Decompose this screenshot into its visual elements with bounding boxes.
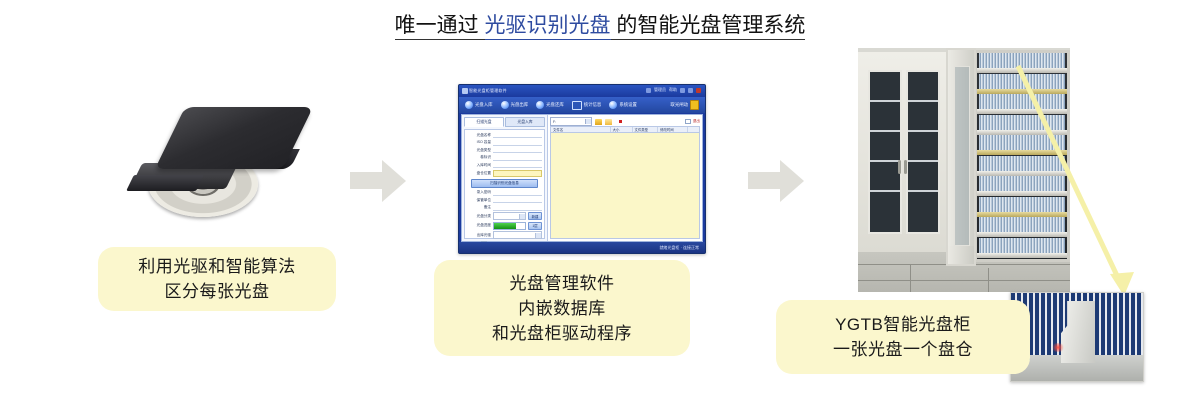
shelf-discs (979, 115, 1065, 130)
cabinet-shelf (977, 238, 1067, 258)
field-label: 盘仓位置 (467, 171, 491, 176)
stats-icon (572, 101, 582, 110)
cabinet-handle-right[interactable] (904, 160, 907, 174)
flag-icon (690, 100, 699, 110)
chevron-down-icon[interactable] (535, 233, 541, 238)
floor-grid-line (988, 268, 989, 292)
shelf-discs (979, 176, 1065, 191)
new-category-button[interactable]: 新建 (528, 212, 542, 220)
ribbon-item-disc-in[interactable]: 光盘入库 (462, 100, 496, 110)
folder-icon[interactable] (595, 119, 602, 125)
exit-control[interactable]: 退出 (685, 119, 700, 125)
drive-path-value: F: (551, 120, 556, 124)
out-drive-select[interactable] (493, 231, 542, 239)
caption-left-line-1: 利用光驱和智能算法 (138, 254, 296, 279)
cabinet-shelf (977, 53, 1067, 73)
shelf-discs (979, 156, 1065, 171)
cabinet-shelf (977, 217, 1067, 237)
disc-out-icon (501, 101, 509, 109)
close-button[interactable] (696, 88, 701, 93)
field-label: 光盘进度 (467, 223, 491, 228)
maximize-button[interactable] (688, 88, 693, 93)
minimize-button[interactable] (680, 88, 685, 93)
title-help-label[interactable]: 帮助 (669, 87, 677, 93)
disc-name-input[interactable] (493, 132, 542, 138)
shelf-rail (977, 191, 1067, 196)
slide-canvas: 唯一通过 光驱识别光盘 的智能光盘管理系统 智能光盘柜管理软件 管理员 帮助 (0, 0, 1200, 400)
ribbon-label: 光盘还库 (546, 102, 564, 108)
file-list-body[interactable] (550, 132, 700, 239)
field-label: 光盘分类 (467, 214, 491, 219)
panel-tabs[interactable]: 扫描光盘 光盘入库 (464, 117, 545, 127)
cabinet-closed-section (858, 52, 947, 252)
shelf-rail (977, 232, 1067, 237)
field-label: 录入密码 (467, 190, 491, 195)
shelf-discs (979, 53, 1065, 68)
disc-management-software-window: 智能光盘柜管理软件 管理员 帮助 光盘入库 光盘出库 光盘还库 (458, 84, 706, 254)
ribbon-item-settings[interactable]: 系统设置 (606, 100, 640, 110)
ribbon-item-disc-return[interactable]: 光盘还库 (533, 100, 567, 110)
field-password[interactable]: 录入密码 (467, 190, 542, 196)
caption-middle: 光盘管理软件 内嵌数据库 和光盘柜驱动程序 (434, 260, 690, 356)
floor-grid-line (858, 280, 1070, 281)
cabinet-shelf (977, 156, 1067, 176)
cabinet-open-section (974, 50, 1070, 262)
chevron-down-icon[interactable] (585, 119, 591, 124)
external-dvd-drive-photo (118, 105, 308, 220)
field-keeper-unit[interactable]: 保管单位 (467, 197, 542, 203)
ribbon-toolbar[interactable]: 光盘入库 光盘出库 光盘还库 统计信息 系统设置 取光闸动 (459, 97, 705, 113)
window-title-text: 智能光盘柜管理软件 (469, 88, 507, 94)
title-highlight: 光驱识别光盘 (485, 14, 611, 40)
caption-right: YGTB智能光盘柜 一张光盘一个盘仓 (776, 300, 1030, 374)
ribbon-label: 系统设置 (619, 102, 637, 108)
caption-middle-line-3: 和光盘柜驱动程序 (492, 321, 632, 346)
shelf-discs (979, 94, 1065, 109)
shelf-discs (979, 135, 1065, 150)
shelf-rail (977, 150, 1067, 155)
cabinet-shelf (977, 74, 1067, 94)
ribbon-label: 统计信息 (584, 102, 602, 108)
disc-cabinet-photo (858, 48, 1070, 292)
chevron-down-icon[interactable] (519, 214, 525, 219)
field-in-time[interactable]: 入库时间 (467, 162, 542, 168)
field-label: 入库时间 (467, 163, 491, 168)
page-title: 唯一通过 光驱识别光盘 的智能光盘管理系统 (0, 12, 1200, 40)
field-volume-id[interactable]: 卷标识 (467, 155, 542, 161)
shelf-rail (977, 89, 1067, 94)
cabinet-glass-pane-left (868, 70, 902, 234)
cabinet-shelf (977, 115, 1067, 135)
arrow-shaft (350, 172, 384, 189)
cabinet-shelf (977, 176, 1067, 196)
exit-checkbox[interactable] (685, 119, 691, 125)
arrow-head (382, 160, 406, 202)
folder-open-icon[interactable] (605, 119, 612, 125)
iso-size-input[interactable] (493, 140, 542, 146)
shelf-discs (979, 74, 1065, 89)
field-disc-name[interactable]: 光盘名称 (467, 132, 542, 138)
window-body: 扫描光盘 光盘入库 光盘名称 ISO 容量 光盘类型 (461, 114, 703, 242)
cabinet-glass-pane-right (906, 70, 940, 234)
remark-input[interactable] (493, 205, 542, 211)
floor-grid-line (910, 264, 911, 292)
tab-disc-in[interactable]: 光盘入库 (505, 117, 545, 127)
arrow-head (780, 160, 804, 202)
status-bar: 就绪光盘柜 · 连接正常 (459, 242, 705, 253)
field-remark[interactable]: 备注 (467, 205, 542, 211)
gear-icon (609, 101, 617, 109)
slot-position-input[interactable] (493, 170, 542, 177)
keeper-unit-input[interactable] (493, 197, 542, 203)
shelf-rail (977, 212, 1067, 217)
arrow-shaft (748, 172, 782, 189)
in-time-input[interactable] (493, 162, 542, 168)
window-title-bar: 智能光盘柜管理软件 管理员 帮助 (459, 85, 705, 97)
ribbon-label: 光盘入库 (475, 102, 493, 108)
ribbon-label: 取光闸动 (670, 102, 688, 108)
field-iso-size[interactable]: ISO 容量 (467, 140, 542, 146)
drive-tray-front (126, 175, 204, 191)
field-slot-position[interactable]: 盘仓位置 (467, 170, 542, 177)
ribbon-item-flag[interactable]: 取光闸动 (667, 99, 702, 111)
disc-in-icon (465, 101, 473, 109)
field-out-drive[interactable]: 出库光驱 (467, 231, 542, 239)
right-arrow-icon-1 (350, 160, 408, 202)
field-disc-category[interactable]: 光盘分类 新建 (467, 212, 542, 220)
field-label: 备注 (467, 205, 491, 210)
shelf-rail (977, 68, 1067, 73)
cabinet-shelf (977, 197, 1067, 217)
volume-id-input[interactable] (493, 155, 542, 161)
scan-disc-button[interactable]: 扫描识别光盘信息 (471, 179, 538, 188)
disc-return-icon (536, 101, 544, 109)
field-label: 光盘名称 (467, 133, 491, 138)
caption-right-line-2: 一张光盘一个盘仓 (833, 337, 973, 362)
cabinet-handle-left[interactable] (898, 160, 901, 174)
title-user-label: 管理员 (654, 87, 666, 93)
shelf-discs (979, 197, 1065, 212)
caption-middle-line-1: 光盘管理软件 (492, 271, 632, 296)
laser-indicator-icon (1051, 343, 1065, 352)
disc-slot-closeup-photo (1010, 292, 1144, 382)
field-progress: 光盘进度 1层 (467, 222, 542, 230)
file-list-panel: F: 退出 文件名 大小 文件类型 修改时间 (548, 115, 702, 241)
field-label: 保管单位 (467, 198, 491, 203)
drive-path-select[interactable]: F: (550, 117, 592, 126)
ribbon-item-stats[interactable]: 统计信息 (569, 100, 605, 111)
title-prefix: 唯一通过 (395, 14, 485, 40)
right-arrow-icon-2 (748, 160, 806, 202)
tab-scan-disc[interactable]: 扫描光盘 (464, 117, 504, 127)
ribbon-item-disc-out[interactable]: 光盘出库 (498, 100, 532, 110)
user-icon[interactable] (646, 88, 651, 93)
ribbon-label: 光盘出库 (511, 102, 529, 108)
file-toolbar[interactable]: F: 退出 (550, 117, 700, 126)
record-icon[interactable] (619, 120, 622, 123)
app-logo-icon (462, 88, 468, 94)
field-label: 卷标识 (467, 155, 491, 160)
form-container: 光盘名称 ISO 容量 光盘类型 卷标识 (464, 129, 545, 239)
field-label: 出库光驱 (467, 233, 491, 238)
disc-type-input[interactable] (493, 147, 542, 153)
left-form-panel: 扫描光盘 光盘入库 光盘名称 ISO 容量 光盘类型 (462, 115, 548, 241)
field-label: 光盘类型 (467, 148, 491, 153)
shelf-rail (977, 171, 1067, 176)
cabinet-open-door[interactable] (946, 48, 976, 266)
shelf-rail (977, 109, 1067, 114)
status-text: 就绪光盘柜 · 连接正常 (659, 245, 699, 251)
door-glass-pane (954, 66, 970, 246)
password-input[interactable] (493, 190, 542, 196)
exit-label: 退出 (693, 119, 700, 124)
field-disc-type[interactable]: 光盘类型 (467, 147, 542, 153)
caption-left: 利用光驱和智能算法 区分每张光盘 (98, 247, 336, 311)
shelf-rail (977, 253, 1067, 258)
caption-left-line-2: 区分每张光盘 (138, 279, 296, 304)
cabinet-shelf (977, 135, 1067, 155)
title-suffix: 的智能光盘管理系统 (611, 14, 806, 40)
caption-middle-line-2: 内嵌数据库 (492, 296, 632, 321)
disc-category-select[interactable] (493, 212, 526, 220)
shelf-discs (979, 238, 1065, 253)
layer-stepper[interactable]: 1层 (528, 222, 542, 230)
window-controls[interactable]: 管理员 帮助 (646, 87, 701, 93)
shelf-discs (979, 217, 1065, 232)
cabinet-shelf (977, 94, 1067, 114)
caption-right-line-1: YGTB智能光盘柜 (833, 312, 973, 337)
shelf-rail (977, 130, 1067, 135)
field-label: ISO 容量 (467, 140, 491, 145)
progress-bar (493, 222, 526, 230)
